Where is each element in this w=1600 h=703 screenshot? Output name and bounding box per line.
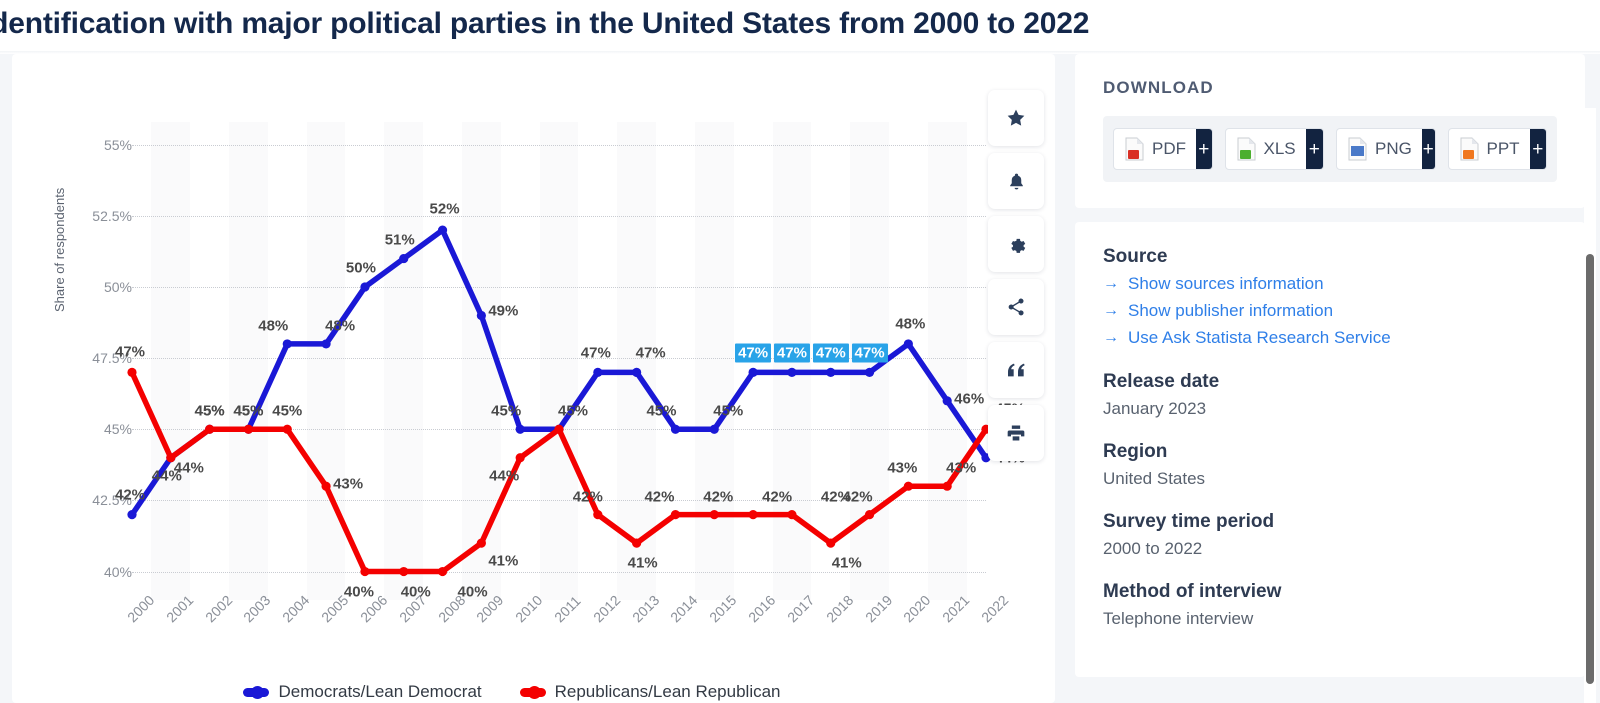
data-label: 41% (628, 555, 658, 572)
data-label: 44% (489, 467, 519, 484)
ppt-file-icon (1459, 137, 1479, 161)
data-label: 47% (115, 344, 145, 361)
data-label: 45% (491, 403, 521, 420)
png-file-icon (1347, 137, 1367, 161)
legend-label: Democrats/Lean Democrat (278, 682, 481, 702)
page-body: Share of respondents 40%42.5%45%47.5%50%… (0, 54, 1600, 703)
arrow-right-icon: → (1103, 329, 1119, 347)
arrow-right-icon: → (1103, 275, 1119, 293)
quote-icon[interactable] (988, 342, 1044, 398)
data-label: 42% (644, 488, 674, 505)
chart-tool-rail (988, 90, 1044, 468)
download-heading: DOWNLOAD (1103, 78, 1557, 98)
data-label: 42% (573, 488, 603, 505)
legend-label: Republicans/Lean Republican (555, 682, 781, 702)
data-label: 42% (115, 486, 145, 503)
data-label: 43% (333, 476, 363, 493)
download-format-label: PPT (1487, 139, 1520, 159)
data-label: 40% (401, 583, 431, 600)
legend-marker-icon (520, 688, 546, 697)
download-xls-main[interactable]: XLS (1226, 129, 1306, 169)
legend-item[interactable]: Republicans/Lean Republican (520, 682, 781, 702)
download-pdf-main[interactable]: PDF (1114, 129, 1196, 169)
download-card: DOWNLOAD PDF+XLS+PNG+PPT+ (1075, 54, 1585, 208)
data-label: 43% (887, 460, 917, 477)
legend-item[interactable]: Democrats/Lean Democrat (243, 682, 481, 702)
info-field-value: January 2023 (1103, 399, 1557, 419)
info-field-value: Telephone interview (1103, 609, 1557, 629)
info-field-value: United States (1103, 469, 1557, 489)
data-label: 40% (458, 583, 488, 600)
source-link[interactable]: →Show sources information (1103, 274, 1557, 294)
gear-icon[interactable] (988, 216, 1044, 272)
download-pdf-button[interactable]: PDF+ (1113, 128, 1213, 170)
data-label: 45% (272, 403, 302, 420)
download-png-main[interactable]: PNG (1337, 129, 1422, 169)
data-label: 40% (344, 583, 374, 600)
download-ppt-button[interactable]: PPT+ (1448, 128, 1548, 170)
data-label: 44% (152, 467, 182, 484)
source-link-label: Show publisher information (1128, 301, 1333, 321)
share-icon[interactable] (988, 279, 1044, 335)
data-label: 46% (954, 390, 984, 407)
source-link[interactable]: →Use Ask Statista Research Service (1103, 328, 1557, 348)
info-field-heading: Region (1103, 441, 1557, 463)
download-options-plus-button[interactable]: + (1422, 129, 1435, 169)
page-header: Identification with major political part… (0, 0, 1600, 52)
bell-icon[interactable] (988, 153, 1044, 209)
download-format-label: PDF (1152, 139, 1186, 159)
data-label-highlighted: 47% (813, 344, 849, 363)
info-field-heading: Release date (1103, 371, 1557, 393)
download-xls-button[interactable]: XLS+ (1225, 128, 1325, 170)
source-link-label: Show sources information (1128, 274, 1324, 294)
sidebar: DOWNLOAD PDF+XLS+PNG+PPT+ Source →Show s… (1075, 54, 1585, 691)
data-label: 41% (832, 555, 862, 572)
data-label: 51% (385, 231, 415, 248)
data-label: 47% (636, 345, 666, 362)
legend-marker-icon (243, 688, 269, 697)
data-label: 45% (646, 403, 676, 420)
download-format-label: XLS (1264, 139, 1296, 159)
download-png-button[interactable]: PNG+ (1336, 128, 1436, 170)
data-label: 45% (195, 403, 225, 420)
data-label-highlighted: 47% (852, 344, 888, 363)
chart-series-lines (12, 54, 1055, 703)
data-label-highlighted: 47% (735, 344, 771, 363)
data-label: 48% (325, 317, 355, 334)
data-label: 42% (762, 488, 792, 505)
data-label: 50% (346, 260, 376, 277)
info-fields: Release dateJanuary 2023RegionUnited Sta… (1103, 355, 1557, 629)
data-label: 52% (430, 201, 460, 218)
download-options-plus-button[interactable]: + (1530, 129, 1546, 169)
data-label: 45% (558, 403, 588, 420)
download-ppt-main[interactable]: PPT (1449, 129, 1530, 169)
data-label: 48% (258, 317, 288, 334)
download-format-label: PNG (1375, 139, 1412, 159)
scrollbar-thumb[interactable] (1586, 254, 1594, 684)
xls-file-icon (1236, 137, 1256, 161)
chart-card: Share of respondents 40%42.5%45%47.5%50%… (12, 54, 1055, 703)
download-button-row: PDF+XLS+PNG+PPT+ (1103, 116, 1557, 182)
info-field-heading: Method of interview (1103, 581, 1557, 603)
page-title: Identification with major political part… (0, 2, 1089, 46)
data-label-highlighted: 47% (774, 344, 810, 363)
data-label: 42% (703, 488, 733, 505)
data-label: 45% (233, 403, 263, 420)
field-spacer (1103, 355, 1557, 371)
info-field-value: 2000 to 2022 (1103, 539, 1557, 559)
pdf-file-icon (1124, 137, 1144, 161)
print-icon[interactable] (988, 405, 1044, 461)
data-label: 43% (946, 460, 976, 477)
source-link[interactable]: →Show publisher information (1103, 301, 1557, 321)
source-link-label: Use Ask Statista Research Service (1128, 328, 1391, 348)
data-label: 45% (713, 403, 743, 420)
star-icon[interactable] (988, 90, 1044, 146)
data-label: 41% (488, 553, 518, 570)
download-options-plus-button[interactable]: + (1196, 129, 1212, 169)
info-card: Source →Show sources information→Show pu… (1075, 222, 1585, 677)
arrow-right-icon: → (1103, 302, 1119, 320)
source-links: →Show sources information→Show publisher… (1103, 274, 1557, 348)
download-options-plus-button[interactable]: + (1306, 129, 1323, 169)
chart-legend: Democrats/Lean DemocratRepublicans/Lean … (12, 682, 1012, 702)
data-label: 42% (843, 488, 873, 505)
source-heading: Source (1103, 246, 1557, 268)
chart-plot-area: Share of respondents 40%42.5%45%47.5%50%… (12, 54, 1055, 703)
data-label: 49% (488, 303, 518, 320)
info-field-heading: Survey time period (1103, 511, 1557, 533)
data-label: 48% (895, 315, 925, 332)
data-label: 47% (581, 345, 611, 362)
